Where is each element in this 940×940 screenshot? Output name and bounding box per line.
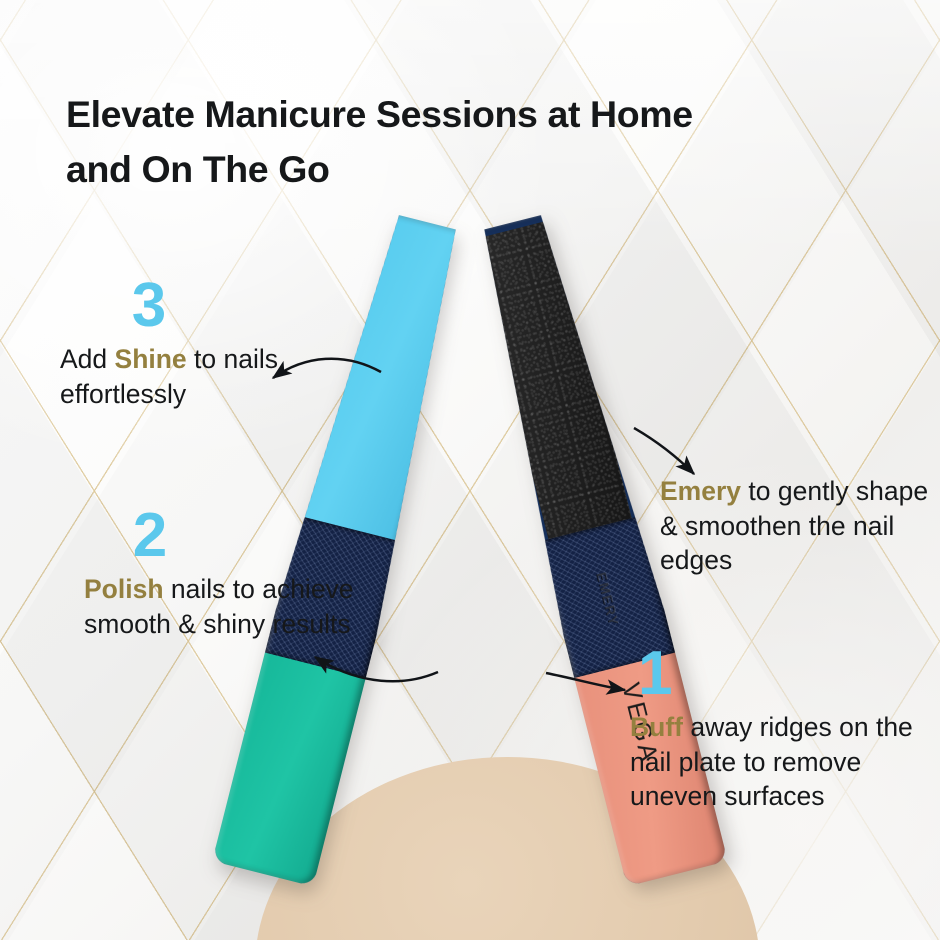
step-1-text: Buff away ridges on the nail plate to re… xyxy=(630,710,920,814)
step-1: 1 Buff away ridges on the nail plate to … xyxy=(630,646,920,814)
step-2-text: Polish nails to achieve smooth & shiny r… xyxy=(84,572,354,641)
step-2: 2 Polish nails to achieve smooth & shiny… xyxy=(84,508,354,641)
callout-emery-keyword: Emery xyxy=(660,476,741,506)
emery-emboss-label: EMERY xyxy=(594,571,622,628)
infographic-canvas: Elevate Manicure Sessions at Home and On… xyxy=(0,0,940,940)
step-1-keyword: Buff xyxy=(630,712,683,742)
step-2-keyword: Polish xyxy=(84,574,164,604)
polish-surface xyxy=(212,653,366,887)
emery-surface xyxy=(473,219,634,546)
step-3-keyword: Shine xyxy=(115,344,187,374)
step-1-number: 1 xyxy=(638,646,920,702)
step-3-number: 3 xyxy=(60,278,238,334)
callout-emery: Emery to gently shape & smoothen the nai… xyxy=(660,474,940,578)
step-2-number: 2 xyxy=(84,508,216,564)
step-3-text: Add Shine to nails effortlessly xyxy=(60,342,330,411)
step-3-text-before: Add xyxy=(60,344,115,374)
callout-emery-text: Emery to gently shape & smoothen the nai… xyxy=(660,474,940,578)
step-3: 3 Add Shine to nails effortlessly xyxy=(60,278,330,411)
